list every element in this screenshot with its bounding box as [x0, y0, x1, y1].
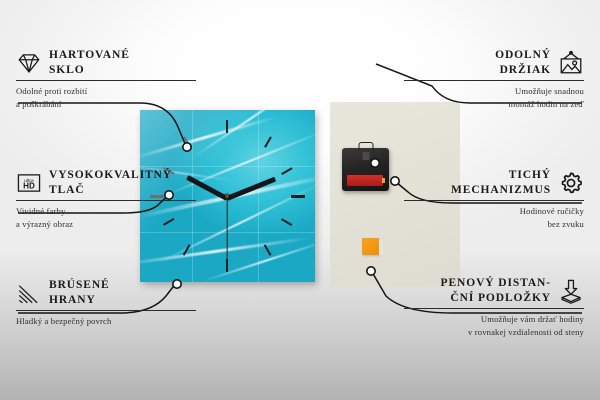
feature-title: HARTOVANÉ SKLO: [49, 48, 130, 77]
feature-foam-spacers: PENOVÝ DISTAN- ČNÍ PODLOŽKY Umožňuje vám…: [404, 276, 584, 338]
mechanism-shaft: [362, 152, 369, 160]
feature-title: BRÚSENÉ HRANY: [49, 278, 110, 307]
hour-tick: [226, 259, 228, 272]
foam-spacer-pad: [362, 238, 379, 255]
feature-title: PENOVÝ DISTAN- ČNÍ PODLOŽKY: [441, 276, 551, 305]
svg-text:HD: HD: [23, 181, 35, 190]
feature-description: Hodinové ručičky bez zvuku: [404, 205, 584, 229]
feature-title: ODOLNÝ DRŽIAK: [495, 48, 551, 77]
gear-icon: [558, 170, 584, 196]
hour-tick: [226, 120, 228, 133]
feature-header: ultra HD VYSOKOKVALITNÝ TLAČ: [16, 168, 196, 197]
feature-divider: [16, 80, 196, 81]
feature-header: BRÚSENÉ HRANY: [16, 278, 196, 307]
feature-title: TICHÝ MECHANIZMUS: [451, 168, 551, 197]
beveled-edge-icon: [16, 280, 42, 306]
glass-grid-line: [258, 110, 259, 282]
feature-durable-holder: ODOLNÝ DRŽIAK Umožňuje snadnou montáž ho…: [404, 48, 584, 110]
feature-header: HARTOVANÉ SKLO: [16, 48, 196, 77]
clock-center-pin: [225, 194, 229, 198]
feature-description: Umožňuje snadnou montáž hodin na zeď: [404, 85, 584, 109]
ultra-hd-icon: ultra HD: [16, 170, 42, 196]
feature-divider: [404, 80, 584, 81]
second-hand: [226, 198, 227, 260]
feature-description: Hladký a bezpečný povrch: [16, 315, 196, 327]
feature-divider: [404, 200, 584, 201]
wall-mount-picture-icon: [558, 50, 584, 76]
feature-header: PENOVÝ DISTAN- ČNÍ PODLOŽKY: [404, 276, 584, 305]
mechanism-hanger: [358, 142, 373, 151]
diamond-icon: [16, 50, 42, 76]
feature-header: TICHÝ MECHANIZMUS: [404, 168, 584, 197]
hour-tick: [264, 244, 271, 255]
feature-high-quality-print: ultra HD VYSOKOKVALITNÝ TLAČ Vividné far…: [16, 168, 196, 230]
hour-tick: [291, 195, 305, 198]
hour-tick: [264, 136, 271, 147]
hour-tick: [281, 218, 292, 225]
feature-title: VYSOKOKVALITNÝ TLAČ: [49, 168, 172, 197]
feature-description: Umožňuje vám držať hodiny v rovnakej vzd…: [404, 313, 584, 337]
feature-beveled-edges: BRÚSENÉ HRANY Hladký a bezpečný povrch: [16, 278, 196, 328]
feature-description: Vividné farby a výrazný obraz: [16, 205, 196, 229]
feature-divider: [16, 200, 196, 201]
feature-header: ODOLNÝ DRŽIAK: [404, 48, 584, 77]
battery: [347, 175, 383, 186]
infographic-canvas: HARTOVANÉ SKLO Odolné proti rozbití a po…: [0, 0, 600, 400]
feature-divider: [404, 308, 584, 309]
feature-silent-mechanism: TICHÝ MECHANIZMUS Hodinové ručičky bez z…: [404, 168, 584, 230]
feather-streak: [140, 237, 309, 266]
feature-divider: [16, 310, 196, 311]
feature-tempered-glass: HARTOVANÉ SKLO Odolné proti rozbití a po…: [16, 48, 196, 110]
feather-streak: [140, 115, 278, 159]
foam-pad-press-icon: [558, 278, 584, 304]
feature-description: Odolné proti rozbití a poškrábání: [16, 85, 196, 109]
glass-grid-line: [140, 166, 315, 167]
clock-mechanism: [342, 148, 389, 191]
hour-tick: [281, 167, 292, 174]
